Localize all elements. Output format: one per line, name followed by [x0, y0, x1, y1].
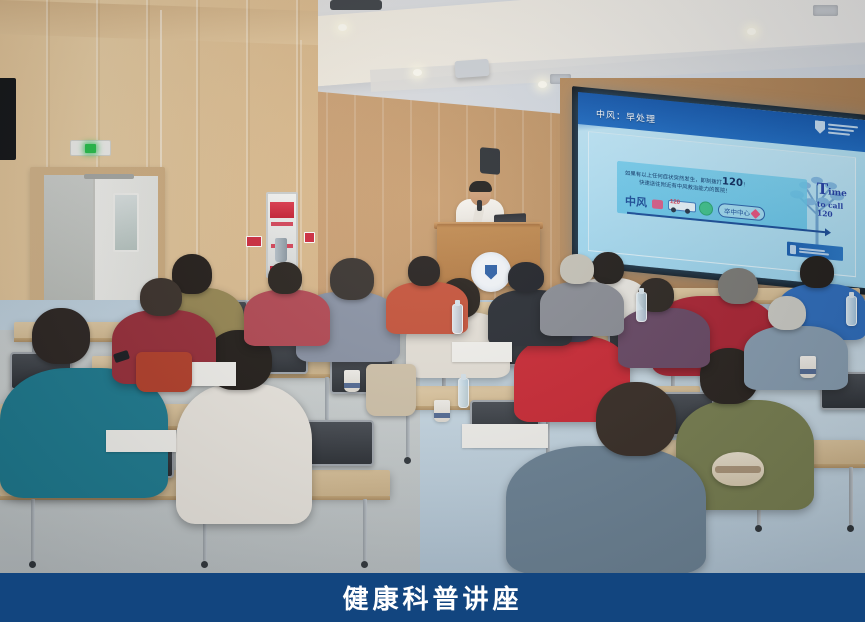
water-bottle: [636, 292, 647, 322]
paper-cup: [800, 356, 816, 378]
attendee-teal-sweater-phone-head: [32, 308, 90, 364]
wall-alarm-button: [304, 232, 315, 243]
attendee-white-hair-head: [560, 254, 594, 284]
table-caster: [755, 525, 762, 532]
caption-text: 健康科普讲座: [342, 579, 522, 616]
hospital-shield-logo: [815, 120, 858, 137]
slide-message-card: 如果有以上任何症状突然发生，即刻拨打120！ 快速送往附近有中风救治能力的医院！…: [617, 161, 807, 232]
fire-extinguisher: [275, 238, 287, 262]
diamond-icon: [751, 208, 761, 218]
emergency-exit-sign: [70, 140, 111, 156]
attendee-orange-puffer-head: [408, 256, 440, 286]
cabinet-stripe: [271, 222, 293, 226]
attendee-white-hair: [540, 282, 624, 336]
ceiling-vent: [813, 5, 838, 16]
time-title-rest: ime: [828, 188, 847, 200]
attendee-purple-coat: [618, 308, 710, 368]
door-window: [113, 193, 139, 252]
water-bottle: [452, 304, 463, 334]
time-to-call-block: Time to call 120: [817, 182, 855, 221]
table-leg: [325, 377, 329, 420]
handout: [462, 424, 548, 448]
presenting-doctor-hair: [469, 181, 492, 192]
handbag-red: [136, 352, 192, 392]
table-leg: [31, 499, 35, 561]
shield-icon: [815, 120, 825, 134]
attendee-plaid-shirt-head: [768, 296, 806, 330]
wall-monitor: [0, 78, 16, 160]
attendee-plaid-front: [506, 446, 706, 573]
ambulance-icon: 120: [668, 199, 694, 214]
table-caster: [847, 525, 854, 532]
table-leg: [406, 409, 410, 457]
wall-left-cornice: [0, 0, 318, 45]
handout: [452, 342, 512, 362]
attendee-maroon-far: [244, 290, 330, 346]
attendee-plaid-shirt: [744, 326, 848, 390]
wall-safety-sign: [246, 236, 262, 247]
attendee-white-coat-seated-head: [592, 252, 624, 284]
handout: [106, 430, 176, 452]
downlight-icon: [747, 28, 756, 35]
microphone-icon: [477, 200, 482, 211]
slide-keyword: 中风: [625, 193, 647, 211]
table-leg: [849, 467, 853, 525]
phone-icon: [652, 199, 663, 209]
door-closer-arm: [84, 174, 134, 179]
attendee-headscarf-head: [140, 278, 182, 316]
clock-icon: [699, 201, 713, 216]
attendee-blue-jacket-far-head: [800, 256, 834, 288]
time-title-line: Time: [817, 182, 855, 201]
logo-text-lines: [828, 123, 858, 136]
paper-cup: [434, 400, 450, 422]
stroke-center-badge: 卒中中心: [718, 203, 765, 222]
footer-text-lines: [799, 247, 829, 255]
time-subtitle: to call 120: [817, 199, 855, 221]
lecture-hall-photo: 中风：早处理: [0, 0, 865, 573]
cabinet-header-label: [270, 202, 294, 218]
slide-title: 中风：早处理: [596, 107, 656, 126]
downlight-icon: [413, 69, 422, 76]
attendee-red-puffer-back-head: [718, 268, 758, 304]
attendee-striped-back: [176, 384, 312, 524]
water-bottle: [846, 296, 857, 326]
screenshot-root: 中风：早处理: [0, 0, 865, 622]
paper-cup: [344, 370, 360, 392]
emblem-shield-icon: [485, 265, 497, 280]
caption-banner: 健康科普讲座: [0, 573, 865, 622]
attendee-plaid-front-head: [596, 382, 676, 456]
table-leg: [363, 499, 367, 561]
table-caster: [404, 457, 411, 464]
wall-mounted-speaker: [480, 147, 500, 175]
downlight-icon: [538, 81, 547, 88]
attendee-maroon-far-head: [268, 262, 302, 294]
time-title-initial: T: [817, 179, 828, 198]
bucket-hat: [712, 452, 764, 486]
ambulance-number: 120: [670, 199, 680, 206]
downlight-icon: [338, 24, 347, 31]
ceiling-speaker: [330, 0, 382, 10]
attendee-cap-black-head: [508, 262, 544, 292]
water-bottle: [458, 378, 469, 408]
handbag-beige: [366, 364, 416, 416]
ceiling-projector: [454, 59, 489, 78]
attendee-grey-coat-head: [330, 258, 374, 300]
footer-shield-icon: [790, 244, 796, 254]
exit-running-man-icon: [85, 144, 96, 153]
stroke-center-label: 卒中中心: [724, 205, 750, 218]
